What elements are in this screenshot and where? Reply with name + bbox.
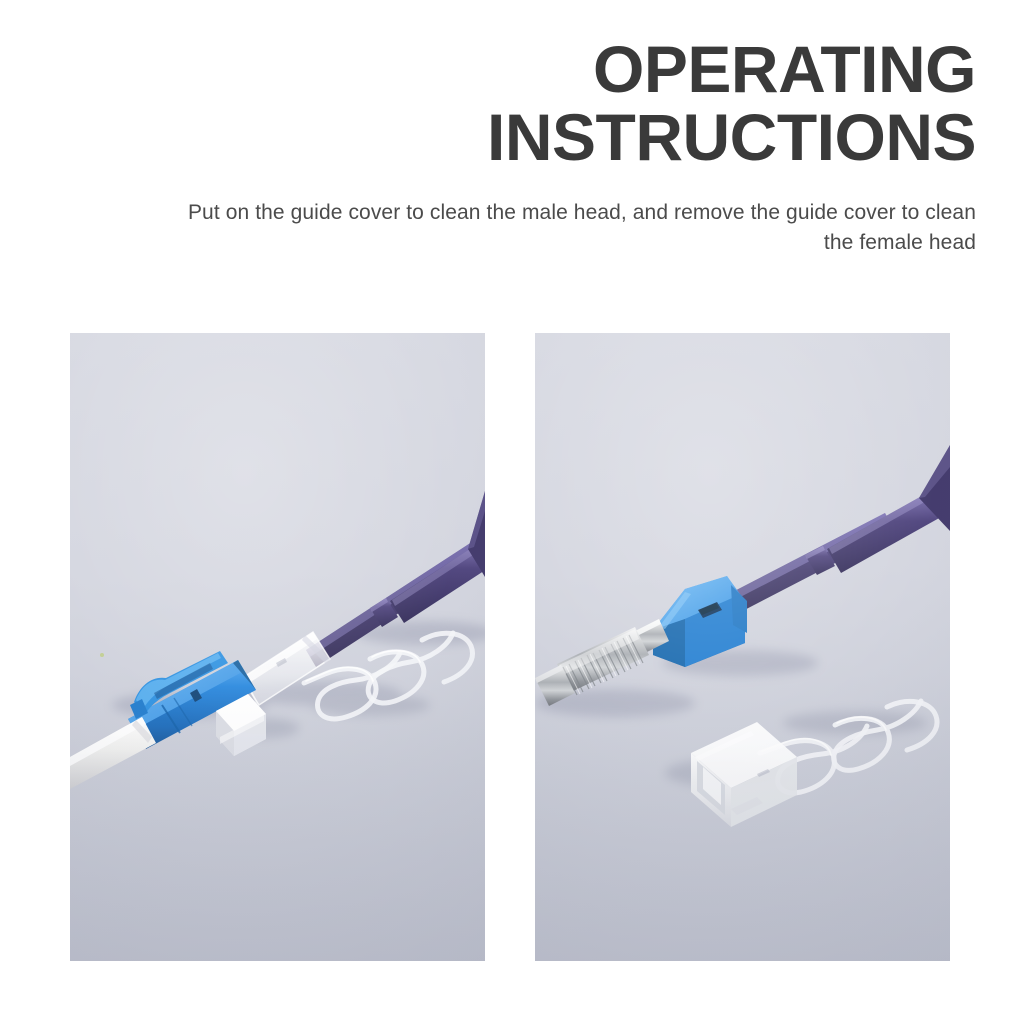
- header: OPERATINGINSTRUCTIONS Put on the guide c…: [160, 36, 976, 258]
- right-photo-illustration: [535, 333, 950, 961]
- left-photo-illustration: [70, 333, 485, 961]
- floor-speck: [100, 653, 104, 657]
- photo-panels: [70, 333, 950, 961]
- cleaner-pen: [721, 445, 950, 617]
- page-title: OPERATINGINSTRUCTIONS: [160, 36, 976, 172]
- page-subtitle: Put on the guide cover to clean the male…: [160, 198, 976, 258]
- fiber-cable: [70, 717, 156, 789]
- title-line-2: INSTRUCTIONS: [160, 104, 976, 172]
- title-line-1: OPERATING: [593, 32, 976, 106]
- photo-panel-right: [535, 333, 950, 961]
- instruction-page: OPERATINGINSTRUCTIONS Put on the guide c…: [0, 0, 1024, 1024]
- guide-cover-detached: [691, 722, 797, 827]
- photo-panel-left: [70, 333, 485, 961]
